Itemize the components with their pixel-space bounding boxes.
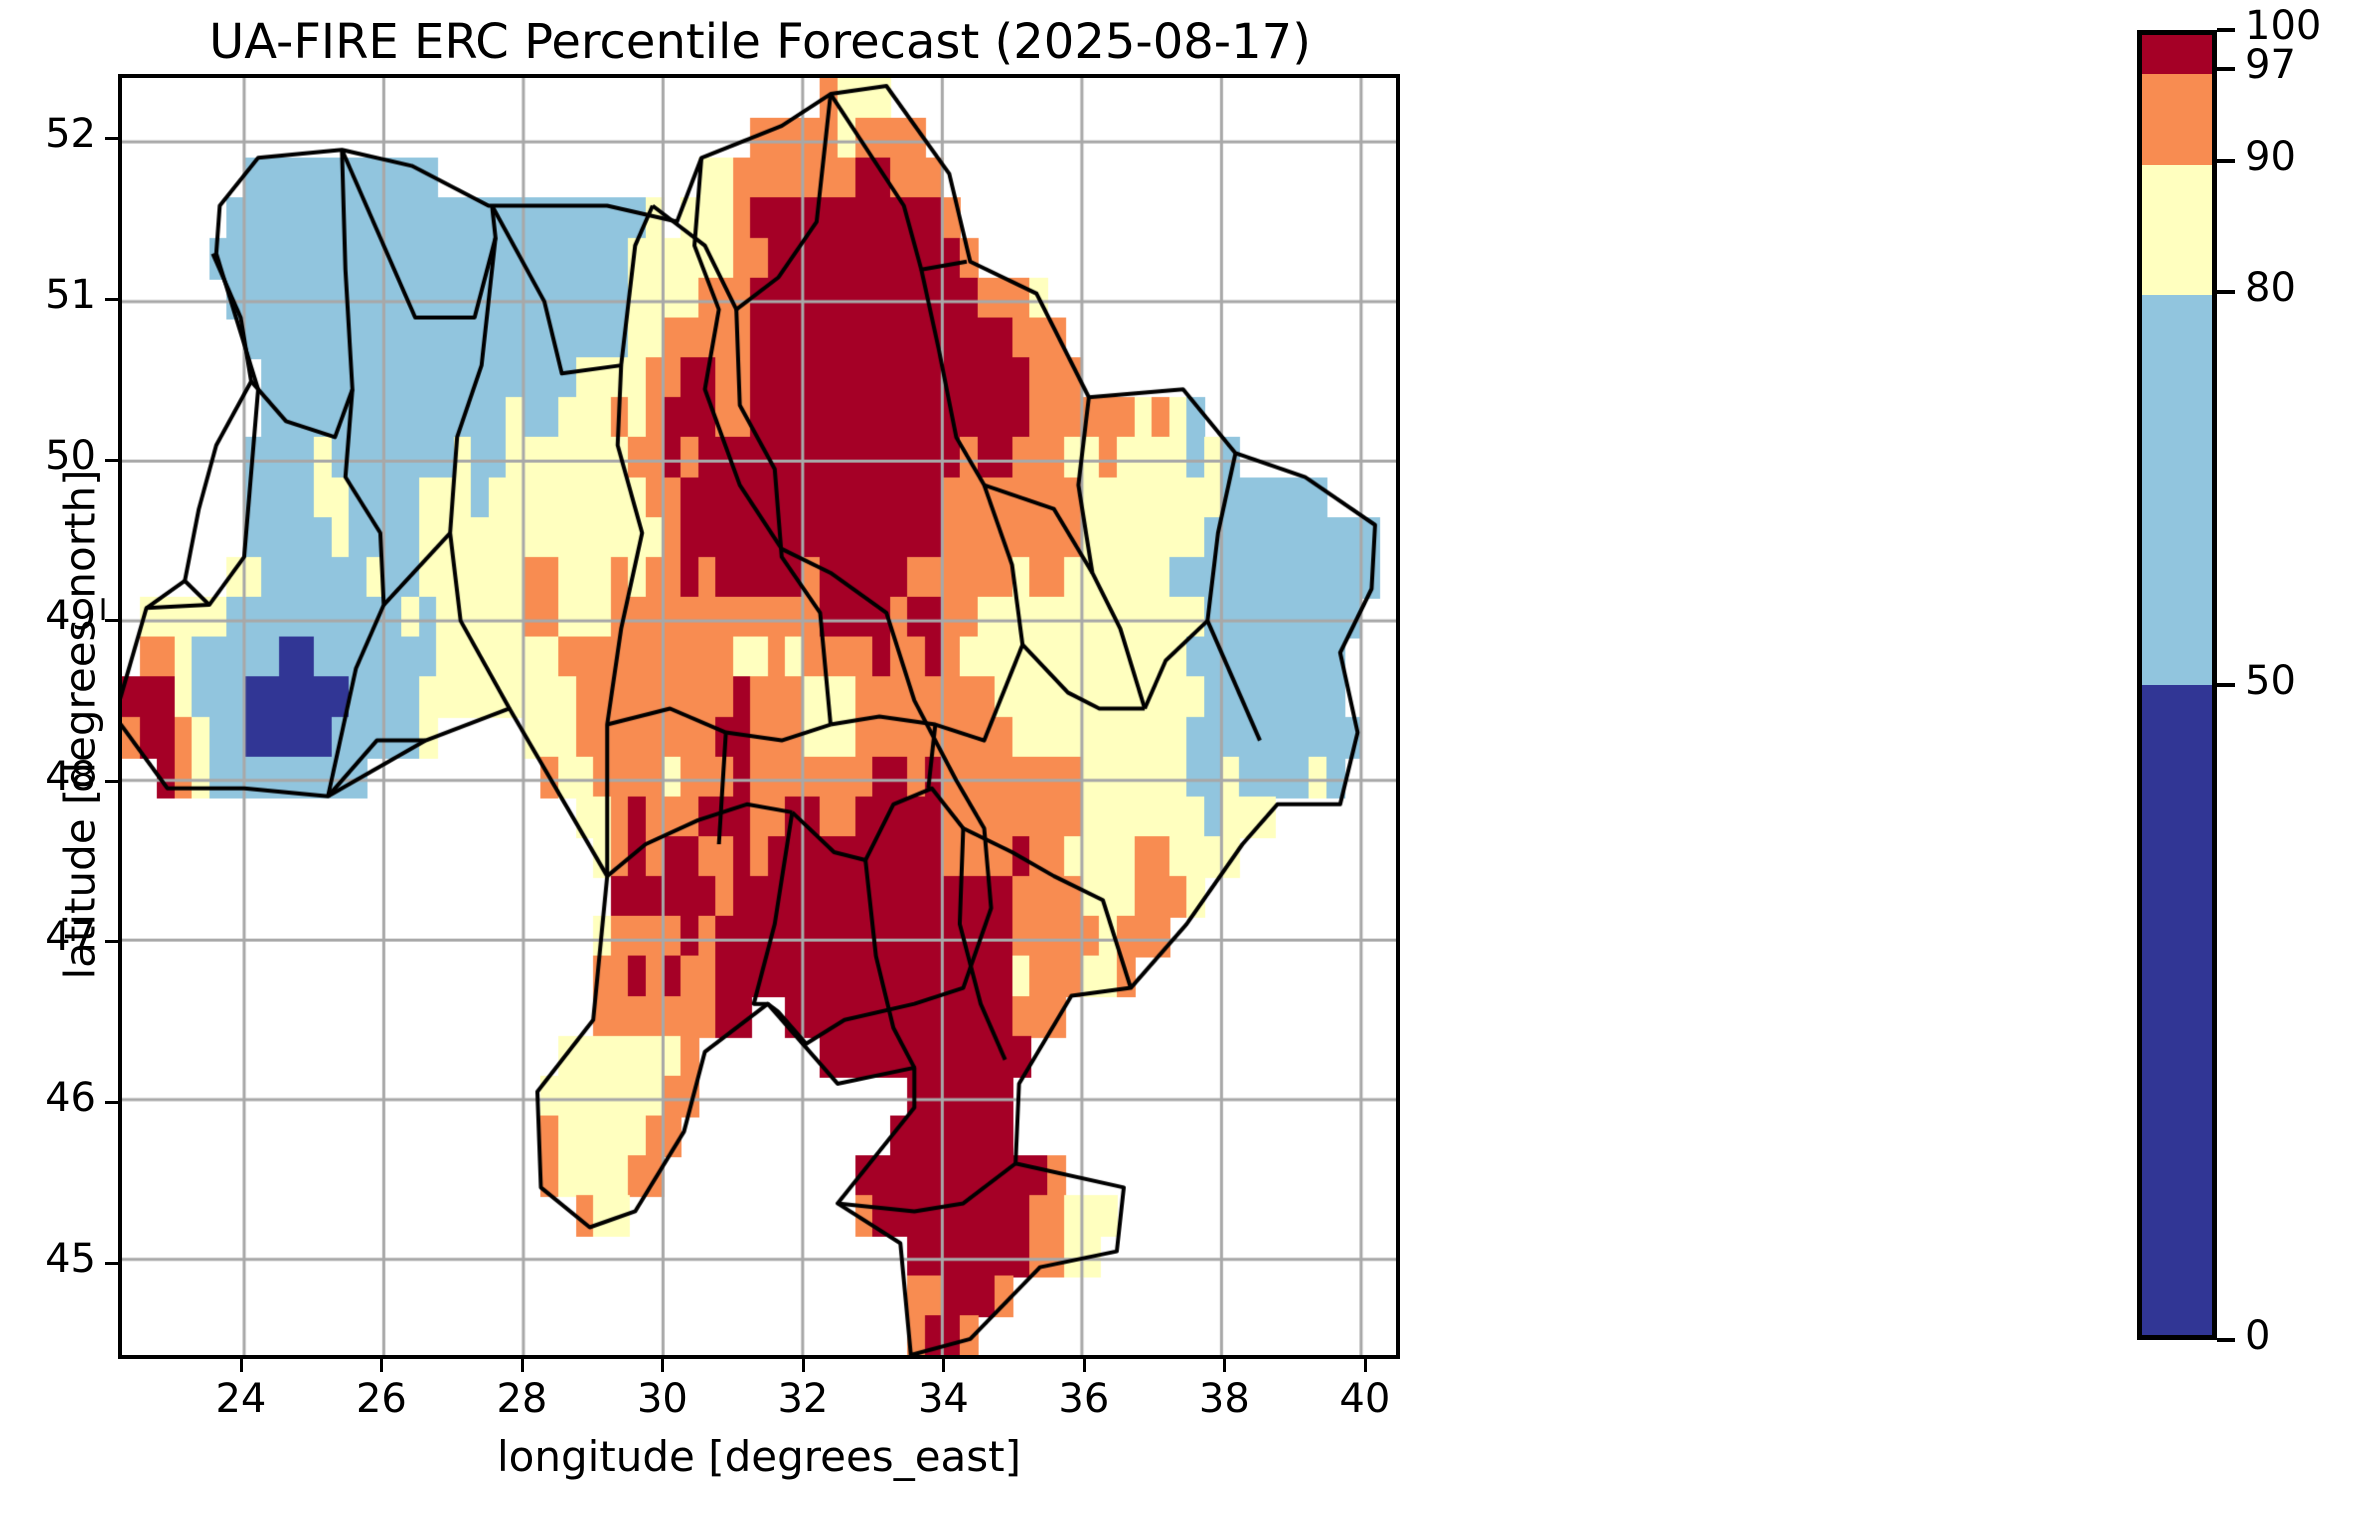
y-tick-mark [105, 459, 118, 462]
y-tick-label-52: 52 [0, 111, 96, 157]
colorbar-tick-label-90: 90 [2245, 134, 2296, 180]
x-tick-mark [380, 1359, 383, 1372]
y-tick-mark [105, 1101, 118, 1104]
x-tick-label-40: 40 [1305, 1376, 1425, 1422]
colorbar-tick-mark [2217, 159, 2235, 163]
colorbar-tick-mark [2217, 290, 2235, 294]
colorbar-tick-label-0: 0 [2245, 1313, 2270, 1359]
x-tick-mark [661, 1359, 664, 1372]
figure-canvas: UA-FIRE ERC Percentile Forecast (2025-08… [0, 0, 2354, 1517]
y-tick-mark [105, 619, 118, 622]
chart-title: UA-FIRE ERC Percentile Forecast (2025-08… [120, 14, 1400, 70]
x-tick-label-34: 34 [883, 1376, 1003, 1422]
x-tick-label-38: 38 [1164, 1376, 1284, 1422]
colorbar-tick-label-50: 50 [2245, 658, 2296, 704]
x-tick-mark [1083, 1359, 1086, 1372]
x-tick-mark [802, 1359, 805, 1372]
x-tick-label-26: 26 [321, 1376, 441, 1422]
colorbar-tick-label-80: 80 [2245, 265, 2296, 311]
y-tick-mark [105, 1262, 118, 1265]
colorbar-segment-50-80 [2142, 295, 2212, 685]
y-tick-mark [105, 137, 118, 140]
x-axis-title: longitude [degrees_east] [118, 1432, 1400, 1481]
x-tick-mark [521, 1359, 524, 1372]
colorbar-tick-mark [2217, 67, 2235, 71]
x-tick-label-28: 28 [462, 1376, 582, 1422]
y-axis-title: latitude [degrees_north] [56, 325, 105, 1125]
y-tick-mark [105, 298, 118, 301]
y-tick-mark [105, 940, 118, 943]
colorbar-gradient [2137, 30, 2217, 1340]
map-plot-area[interactable] [118, 74, 1400, 1359]
colorbar-tick-mark [2217, 28, 2235, 32]
x-tick-label-24: 24 [181, 1376, 301, 1422]
colorbar-segment-80-90 [2142, 165, 2212, 295]
colorbar[interactable]: 050809097100 [2137, 30, 2217, 1340]
x-tick-mark [1223, 1359, 1226, 1372]
colorbar-tick-label-100: 100 [2245, 3, 2321, 49]
x-tick-label-32: 32 [743, 1376, 863, 1422]
colorbar-segment-90-97 [2142, 74, 2212, 165]
x-tick-mark [1364, 1359, 1367, 1372]
colorbar-tick-mark [2217, 1338, 2235, 1342]
y-tick-label-45: 45 [0, 1236, 96, 1282]
map-raster-canvas [122, 78, 1396, 1355]
colorbar-tick-mark [2217, 683, 2235, 687]
x-tick-mark [942, 1359, 945, 1372]
y-tick-label-51: 51 [0, 272, 96, 318]
y-tick-mark [105, 780, 118, 783]
colorbar-tick-label-97: 97 [2245, 42, 2296, 88]
x-tick-mark [240, 1359, 243, 1372]
x-tick-label-36: 36 [1024, 1376, 1144, 1422]
x-tick-label-30: 30 [602, 1376, 722, 1422]
colorbar-segment-97-100 [2142, 35, 2212, 74]
colorbar-segment-0-50 [2142, 685, 2212, 1335]
